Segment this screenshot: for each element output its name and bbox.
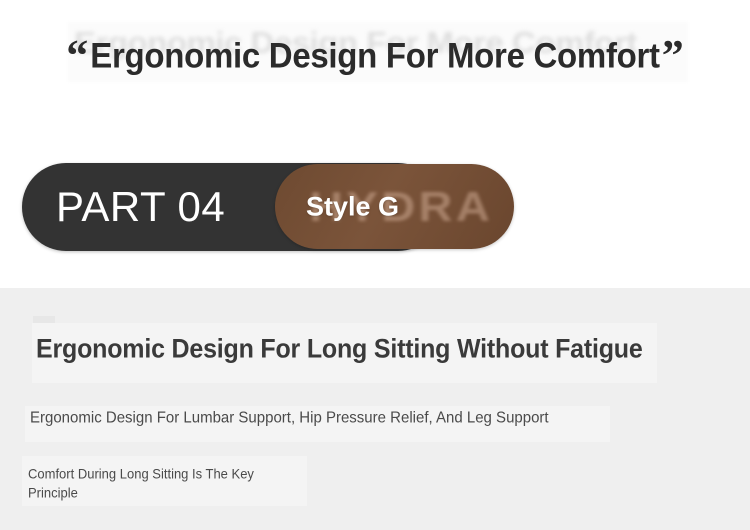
hero-section: Ergonomic Design For More Comfort “Ergon… [0,0,750,288]
page-title: Ergonomic Design For More Comfort [90,38,659,75]
style-label: Style G [306,191,399,222]
part-banner: PART 04 HYDRA Style G [22,163,514,251]
quote-close-icon: ” [662,40,684,72]
lower-section: Ergonomic Design For Long Sitting Withou… [0,288,750,530]
hero-title-row: “Ergonomic Design For More Comfort” [0,38,750,73]
part-number-label: PART 04 [56,183,225,231]
style-pill[interactable]: HYDRA Style G [275,164,514,249]
section-subtitle: Ergonomic Design For Lumbar Support, Hip… [30,409,549,427]
section-heading: Ergonomic Design For Long Sitting Withou… [36,334,643,365]
quote-open-icon: “ [66,40,88,72]
section-note: Comfort During Long Sitting Is The Key P… [28,465,298,502]
